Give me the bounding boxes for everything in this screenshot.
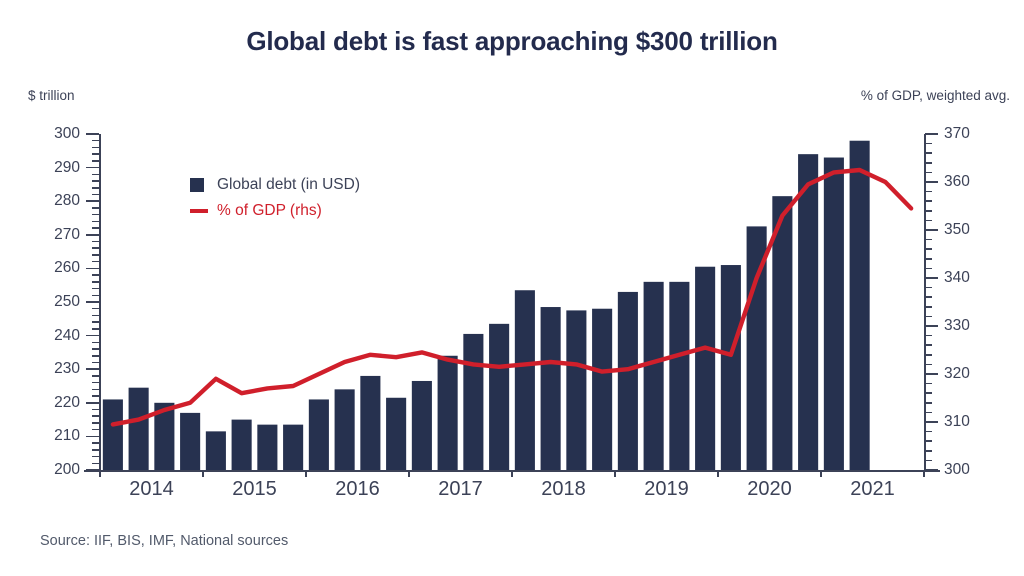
legend-bar-swatch-icon [190,178,204,192]
left-axis-minor-tick [92,449,99,451]
left-axis-tick-label: 210 [32,428,80,444]
bar-2014Q4 [180,413,200,470]
bar-2018Q3 [566,310,586,470]
right-axis-minor-tick [925,431,932,433]
right-axis-major-tick [925,133,938,135]
left-axis-minor-tick [92,261,99,263]
left-axis-major-tick [86,436,99,438]
x-axis-tick [614,470,616,477]
right-axis-minor-tick [925,162,932,164]
bar-2016Q3 [360,376,380,470]
left-axis-major-tick [86,402,99,404]
right-axis-tick-label: 360 [944,174,970,190]
left-axis-minor-tick [92,288,99,290]
right-axis-major-tick [925,277,938,279]
right-axis-minor-tick [925,200,932,202]
left-axis-minor-tick [92,147,99,149]
left-axis-minor-tick [92,389,99,391]
bar-2019Q2 [644,282,664,470]
right-axis-major-tick [925,373,938,375]
left-axis-minor-tick [92,328,99,330]
bar-2017Q4 [489,324,509,470]
left-axis-tick-label: 280 [32,193,80,209]
left-axis-minor-tick [92,429,99,431]
x-axis-tick [923,470,925,477]
x-axis-tick [820,470,822,477]
bar-2018Q4 [592,309,612,470]
left-axis-minor-tick [92,187,99,189]
left-axis-minor-tick [92,214,99,216]
left-axis-caption: $ trillion [28,88,75,103]
right-axis-minor-tick [925,412,932,414]
x-axis-tick [511,470,513,477]
right-axis-tick-label: 330 [944,318,970,334]
right-axis-minor-tick [925,440,932,442]
left-axis-minor-tick [92,442,99,444]
x-axis-tick [408,470,410,477]
legend-line-swatch-icon [190,209,208,214]
left-axis-minor-tick [92,180,99,182]
right-axis-minor-tick [925,152,932,154]
right-axis-tick-label: 370 [944,126,970,142]
left-axis-major-tick [86,200,99,202]
right-axis-caption: % of GDP, weighted avg. [861,88,1010,103]
bar-2014Q1 [103,399,123,470]
x-axis-label-2017: 2017 [409,478,513,501]
chart-legend: Global debt (in USD) % of GDP (rhs) [190,172,360,224]
left-axis-major-tick [86,301,99,303]
right-axis-minor-tick [925,364,932,366]
bar-2016Q2 [335,389,355,470]
right-axis-minor-tick [925,460,932,462]
right-axis-minor-tick [925,392,932,394]
x-axis-label-2018: 2018 [512,478,616,501]
left-axis-minor-tick [92,409,99,411]
left-axis-minor-tick [92,422,99,424]
left-axis-tick-label: 250 [32,294,80,310]
legend-line-label: % of GDP (rhs) [217,202,322,220]
right-axis-tick-label: 310 [944,414,970,430]
left-axis-minor-tick [92,221,99,223]
bar-2019Q3 [669,282,689,470]
right-axis-minor-tick [925,248,932,250]
left-axis-minor-tick [92,315,99,317]
right-axis-major-tick [925,181,938,183]
bar-2020Q1 [721,265,741,470]
bar-2021Q1 [824,158,844,470]
right-axis-minor-tick [925,306,932,308]
left-axis-tick-label: 300 [32,126,80,142]
bar-2020Q4 [798,154,818,470]
left-axis-minor-tick [92,274,99,276]
left-axis-minor-tick [92,295,99,297]
right-axis-minor-tick [925,268,932,270]
right-axis-major-tick [925,229,938,231]
bar-2017Q3 [463,334,483,470]
x-axis-tick [305,470,307,477]
left-axis-minor-tick [92,160,99,162]
left-axis-minor-tick [92,174,99,176]
left-axis-major-tick [86,234,99,236]
x-axis-tick [717,470,719,477]
bar-2015Q3 [257,425,277,470]
right-axis-minor-tick [925,402,932,404]
left-axis-major-tick [86,335,99,337]
left-axis-tick-label: 200 [32,462,80,478]
right-axis-minor-tick [925,296,932,298]
left-axis-tick-label: 270 [32,227,80,243]
chart-page: Global debt is fast approaching $300 tri… [0,0,1024,576]
left-axis-major-tick [86,368,99,370]
right-axis-minor-tick [925,316,932,318]
right-axis-minor-tick [925,383,932,385]
legend-item-bars: Global debt (in USD) [190,172,360,198]
bar-2016Q4 [386,398,406,470]
right-axis-minor-tick [925,210,932,212]
left-axis-minor-tick [92,456,99,458]
left-axis-minor-tick [92,321,99,323]
left-axis-major-tick [86,133,99,135]
bar-2017Q2 [438,356,458,470]
left-axis-minor-tick [92,227,99,229]
page-title: Global debt is fast approaching $300 tri… [0,26,1024,57]
right-axis-tick-label: 320 [944,366,970,382]
bar-2015Q2 [232,420,252,470]
left-axis-minor-tick [92,382,99,384]
bar-2016Q1 [309,399,329,470]
bar-2014Q2 [129,388,149,470]
right-axis-minor-tick [925,220,932,222]
left-axis-minor-tick [92,395,99,397]
bar-2018Q1 [515,290,535,470]
left-axis-minor-tick [92,241,99,243]
right-axis-major-tick [925,325,938,327]
left-axis-major-tick [86,268,99,270]
left-axis-minor-tick [92,308,99,310]
left-axis-tick-label: 260 [32,260,80,276]
right-axis-minor-tick [925,143,932,145]
right-axis-tick-label: 300 [944,462,970,478]
right-axis-minor-tick [925,354,932,356]
bar-2017Q1 [412,381,432,470]
left-axis-tick-label: 240 [32,328,80,344]
x-axis-label-2014: 2014 [100,478,204,501]
x-axis-tick [99,470,101,477]
legend-bars-label: Global debt (in USD) [217,176,360,194]
left-axis-minor-tick [92,375,99,377]
left-axis-minor-tick [92,140,99,142]
bar-2019Q1 [618,292,638,470]
left-axis-minor-tick [92,355,99,357]
right-axis-minor-tick [925,287,932,289]
bar-2015Q1 [206,431,226,470]
x-axis-label-2015: 2015 [203,478,307,501]
x-axis-label-2016: 2016 [306,478,410,501]
x-axis-tick [202,470,204,477]
bar-2018Q2 [541,307,561,470]
right-axis-minor-tick [925,344,932,346]
left-axis-tick-label: 290 [32,160,80,176]
right-axis-minor-tick [925,258,932,260]
right-axis-major-tick [925,421,938,423]
bar-2015Q4 [283,425,303,470]
left-axis-minor-tick [92,415,99,417]
left-axis-minor-tick [92,463,99,465]
source-note: Source: IIF, BIS, IMF, National sources [40,533,288,549]
left-axis-major-tick [86,167,99,169]
x-axis-label-2021: 2021 [821,478,925,501]
right-axis-minor-tick [925,172,932,174]
left-axis-minor-tick [92,362,99,364]
left-axis-minor-tick [92,348,99,350]
left-axis-minor-tick [92,342,99,344]
right-axis-minor-tick [925,335,932,337]
x-axis-label-2020: 2020 [718,478,822,501]
left-axis-minor-tick [92,247,99,249]
right-axis-minor-tick [925,239,932,241]
bar-2021Q2 [850,141,870,470]
left-axis-major-tick [86,469,99,471]
left-axis-minor-tick [92,254,99,256]
right-axis-major-tick [925,469,938,471]
x-axis-label-2019: 2019 [615,478,719,501]
right-axis-minor-tick [925,450,932,452]
legend-item-line: % of GDP (rhs) [190,198,360,224]
right-axis-minor-tick [925,191,932,193]
right-axis-tick-label: 340 [944,270,970,286]
bar-2019Q4 [695,267,715,470]
left-axis-tick-label: 220 [32,395,80,411]
left-axis-minor-tick [92,207,99,209]
left-axis-minor-tick [92,153,99,155]
left-axis-minor-tick [92,281,99,283]
left-axis-minor-tick [92,194,99,196]
right-axis-tick-label: 350 [944,222,970,238]
left-axis-tick-label: 230 [32,361,80,377]
